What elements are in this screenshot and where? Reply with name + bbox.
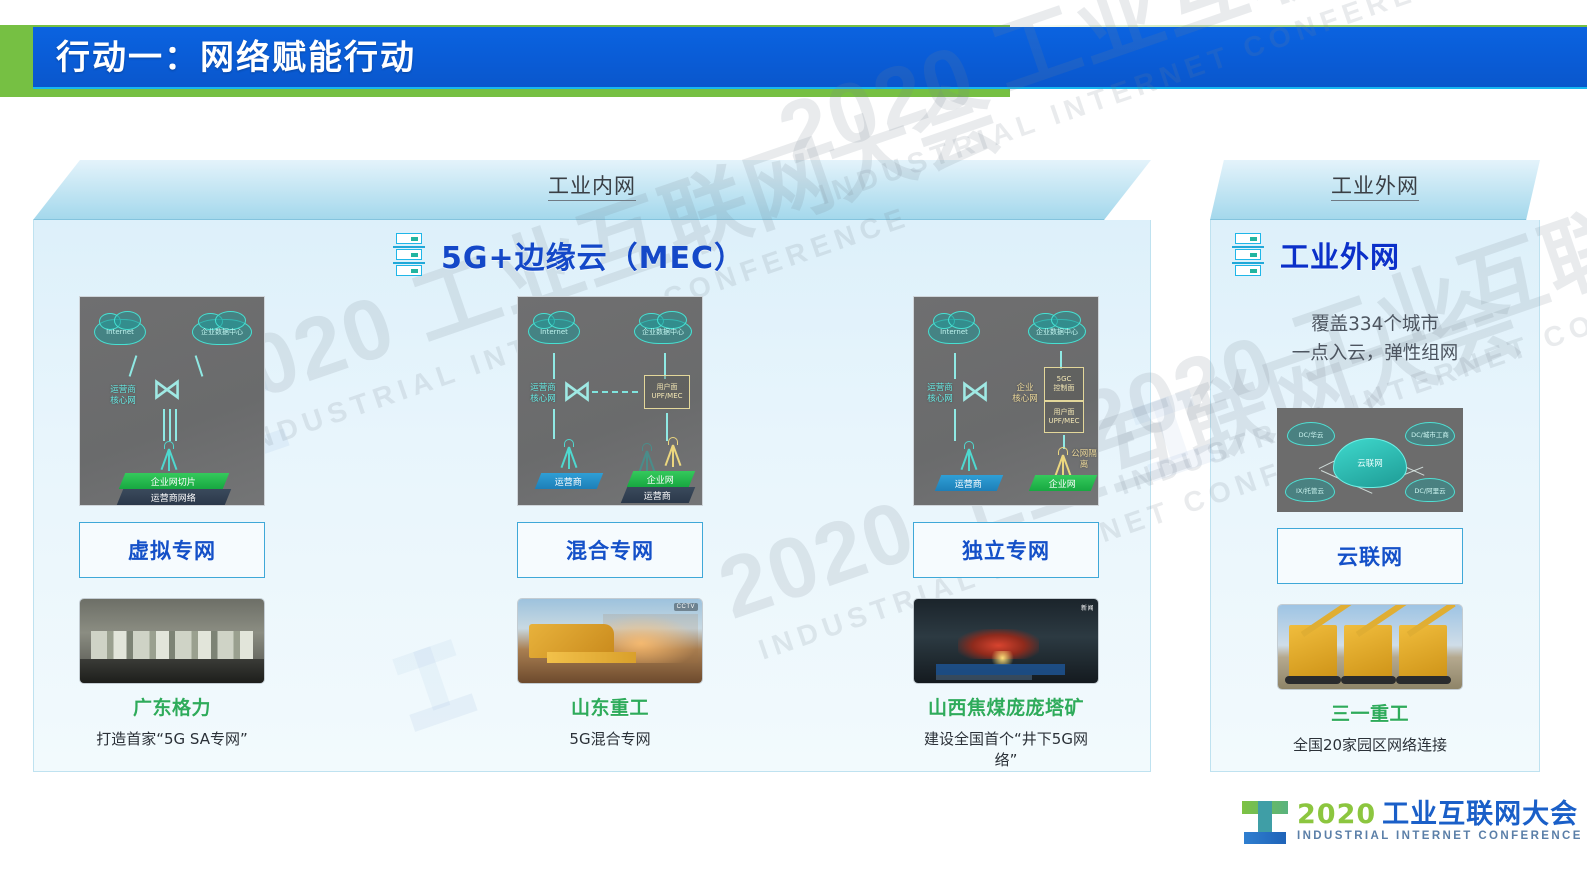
logo-text: 2020 工业互联网大会 INDUSTRIAL INTERNET CONFERE… <box>1297 801 1583 843</box>
mining-excavator-news-photo: CCTV <box>517 598 703 684</box>
photo-channel-tag: 新闻 <box>1081 603 1094 612</box>
cloud-node-label: IX/托管云 <box>1296 485 1324 495</box>
cloud-label: Internet <box>106 328 134 336</box>
plate-label: 运营商 <box>644 489 671 502</box>
slide-root: 行动一：网络赋能行动 2020 工业互联网大会INDUSTRIAL INTERN… <box>0 0 1587 892</box>
logo-mark-icon <box>1242 800 1288 844</box>
logo-english: INDUSTRIAL INTERNET CONFERENCE <box>1297 831 1583 843</box>
cloud-interconnect-diagram: DC/华云 DC/城市工商 IX/托管云 DC/阿里云 云联网 <box>1277 408 1463 512</box>
panel-lid: 工业内网 <box>33 160 1151 220</box>
cloud-node-label: DC/城市工商 <box>1411 429 1449 439</box>
plate-label: 运营商 <box>955 477 982 490</box>
company-name: 山西焦煤庞庞塔矿 <box>913 693 1099 720</box>
panel-lid: 工业外网 <box>1210 160 1540 220</box>
pill-virtual-private-network[interactable]: 虚拟专网 <box>79 522 265 578</box>
section-title: 工业外网 <box>1280 234 1400 276</box>
excavator-fleet-photo <box>1277 604 1463 690</box>
photo-channel-tag: CCTV <box>674 603 698 611</box>
column-cloud-interconnect: DC/华云 DC/城市工商 IX/托管云 DC/阿里云 云联网 云联网 三一重工… <box>1277 408 1463 755</box>
column-caption: 打造首家“5G SA专网” <box>79 728 265 749</box>
column-virtual-private-network: Internet 企业数据中心 运营商核心网 ⋈ 企业网切片 运营商网络 虚拟专… <box>79 296 265 749</box>
logo-year: 2020 <box>1297 801 1376 828</box>
pill-label: 独立专网 <box>962 535 1050 565</box>
extranet-copy-line1: 覆盖334个城市 <box>1210 310 1540 339</box>
cloud-label: 企业数据中心 <box>642 327 684 337</box>
pill-standalone-private-network[interactable]: 独立专网 <box>913 522 1099 578</box>
column-caption: 5G混合专网 <box>517 728 703 749</box>
section-title: 5G+边缘云（MEC） <box>441 233 745 277</box>
pill-cloud-interconnect[interactable]: 云联网 <box>1277 528 1463 584</box>
hybrid-private-network-diagram: Internet 企业数据中心 运营商核心网 ⋈ 用户面UPF/MEC 运营商 … <box>517 296 703 506</box>
cloud-label: 企业数据中心 <box>1036 327 1078 337</box>
plate-label: 运营商 <box>555 475 582 488</box>
page-title: 行动一：网络赋能行动 <box>56 36 416 80</box>
extranet-copy-line2: 一点入云，弹性组网 <box>1210 339 1540 368</box>
pill-hybrid-private-network[interactable]: 混合专网 <box>517 522 703 578</box>
column-caption: 建设全国首个“井下5G网络” <box>913 728 1099 770</box>
underground-mine-crew-photo: 新闻 <box>913 598 1099 684</box>
column-caption: 全国20家园区网络连接 <box>1277 734 1463 755</box>
section-heading-mec: 5G+边缘云（MEC） <box>393 233 745 277</box>
company-name: 三一重工 <box>1277 699 1463 726</box>
plate-label: 企业网 <box>1049 477 1076 490</box>
cloud-node-label: DC/华云 <box>1299 429 1324 439</box>
plate-label: 企业网切片 <box>151 475 196 488</box>
company-name: 广东格力 <box>79 693 265 720</box>
virtual-private-network-diagram: Internet 企业数据中心 运营商核心网 ⋈ 企业网切片 运营商网络 <box>79 296 265 506</box>
plate-label: 企业网 <box>647 473 674 486</box>
conference-logo: 2020 工业互联网大会 INDUSTRIAL INTERNET CONFERE… <box>1242 800 1583 844</box>
pill-label: 混合专网 <box>566 535 654 565</box>
standalone-private-network-diagram: Internet 企业数据中心 运营商核心网 ⋈ 企业核心网 5GC控制面 用户… <box>913 296 1099 506</box>
company-name: 山东重工 <box>517 693 703 720</box>
cloud-label: Internet <box>940 328 968 336</box>
panel-lid-label: 工业内网 <box>33 170 1151 200</box>
pill-label: 虚拟专网 <box>128 535 216 565</box>
section-heading-extranet: 工业外网 <box>1232 233 1400 277</box>
cloud-label: Internet <box>540 328 568 336</box>
logo-chinese: 工业互联网大会 <box>1382 801 1578 828</box>
cloud-label: 企业数据中心 <box>201 327 243 337</box>
cloud-node-label: DC/阿里云 <box>1414 485 1445 495</box>
pill-label: 云联网 <box>1337 541 1403 571</box>
column-hybrid-private-network: Internet 企业数据中心 运营商核心网 ⋈ 用户面UPF/MEC 运营商 … <box>517 296 703 749</box>
factory-floor-photo <box>79 598 265 684</box>
server-icon <box>393 233 425 277</box>
column-standalone-private-network: Internet 企业数据中心 运营商核心网 ⋈ 企业核心网 5GC控制面 用户… <box>913 296 1099 770</box>
plate-label: 运营商网络 <box>151 491 196 504</box>
extranet-copy: 覆盖334个城市 一点入云，弹性组网 <box>1210 310 1540 368</box>
server-icon <box>1232 233 1264 277</box>
cloud-center-label: 云联网 <box>1357 457 1383 469</box>
panel-lid-label: 工业外网 <box>1210 170 1540 200</box>
